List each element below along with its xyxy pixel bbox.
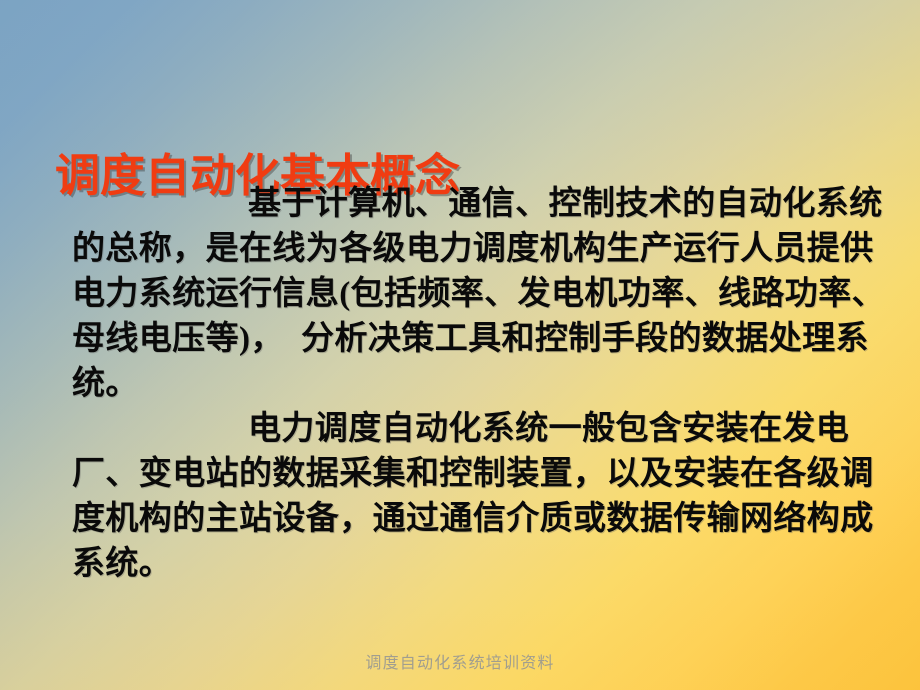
body-paragraph-2: 电力调度自动化系统一般包含安装在发电厂、变电站的数据采集和控制装置，以及安装在各… xyxy=(72,407,892,587)
body-paragraph-1: 基于计算机、通信、控制技术的自动化系统的总称，是在线为各级电力调度机构生产运行人… xyxy=(72,182,892,407)
slide-body-text: 基于计算机、通信、控制技术的自动化系统的总称，是在线为各级电力调度机构生产运行人… xyxy=(72,182,892,587)
slide-canvas: 调度自动化基本概念 基于计算机、通信、控制技术的自动化系统的总称，是在线为各级电… xyxy=(0,0,920,690)
slide-footer: 调度自动化系统培训资料 xyxy=(0,649,920,673)
